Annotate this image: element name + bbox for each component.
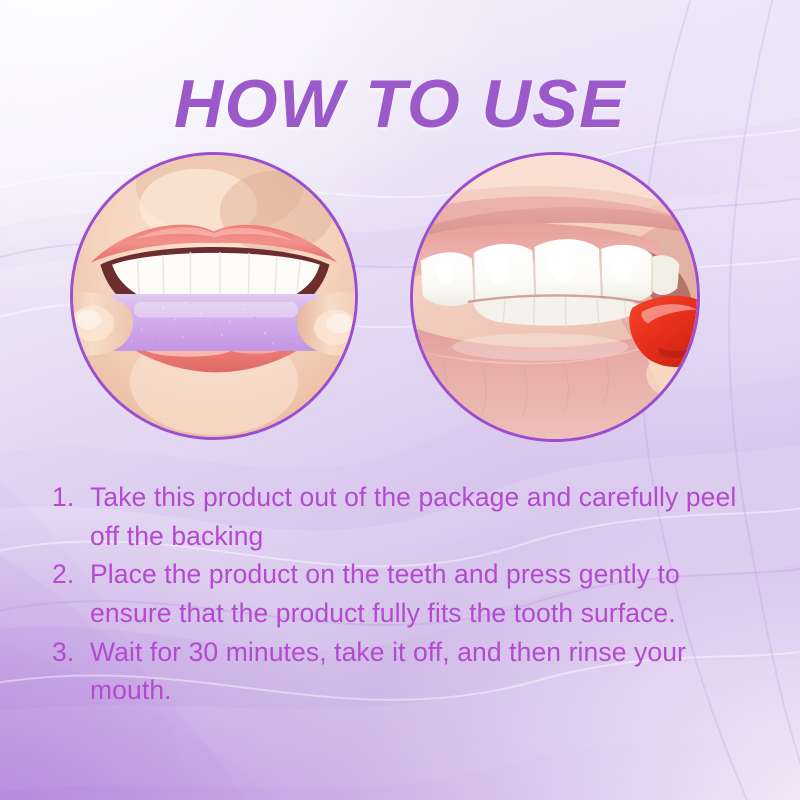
page-title-container: HOW TO USE [0, 24, 800, 183]
instruction-step-1-number: 1. [52, 478, 90, 517]
instruction-step-1-text: Take this product out of the package and… [90, 478, 768, 555]
instruction-step-3-text: Wait for 30 minutes, take it off, and th… [90, 633, 768, 710]
instruction-step-2-text: Place the product on the teeth and press… [90, 555, 768, 632]
page-title: HOW TO USE [174, 70, 626, 138]
instruction-step-3: 3. Wait for 30 minutes, take it off, and… [52, 633, 768, 710]
image-white-teeth-closeup [410, 152, 700, 442]
instruction-step-2-number: 2. [52, 555, 90, 594]
image-applying-whitening-strip [70, 152, 358, 440]
instructions-list: 1. Take this product out of the package … [52, 478, 768, 710]
instruction-step-1: 1. Take this product out of the package … [52, 478, 768, 555]
how-to-use-poster: HOW TO USE [0, 0, 800, 800]
instruction-step-3-number: 3. [52, 633, 90, 672]
instruction-step-2: 2. Place the product on the teeth and pr… [52, 555, 768, 632]
